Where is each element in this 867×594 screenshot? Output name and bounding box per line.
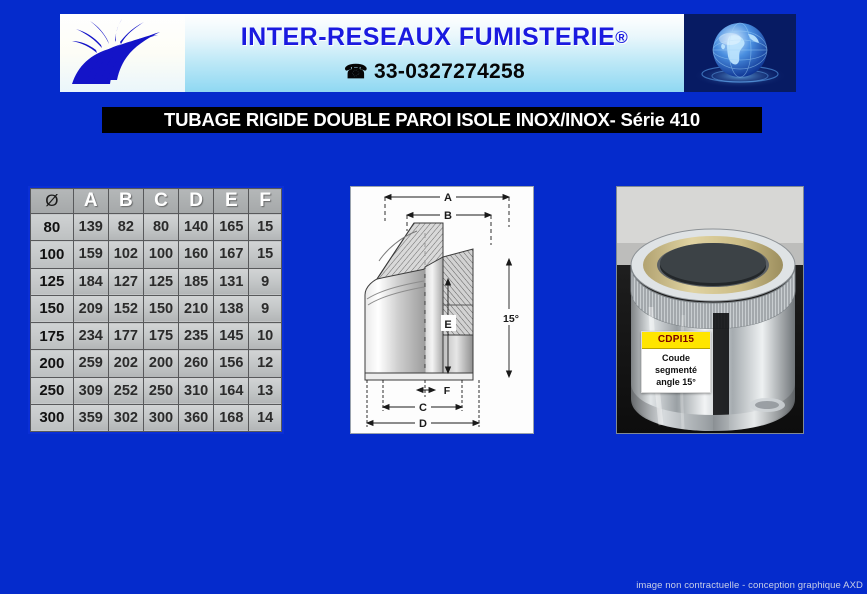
table-row: 200 259 202 200 260 156 12 (31, 350, 282, 377)
cell-diameter: 250 (31, 377, 74, 404)
product-description-line1: Coude (644, 352, 708, 364)
dimension-label-f: F (444, 385, 451, 397)
dimension-label-e: E (444, 319, 451, 331)
disclaimer-footer: image non contractuelle - conception gra… (636, 580, 867, 591)
cell-e: 138 (214, 295, 249, 322)
cell-e: 131 (214, 268, 249, 295)
cell-d: 140 (179, 214, 214, 241)
table-row: 100 159 102 100 160 167 15 (31, 241, 282, 268)
dimension-label-d: D (419, 418, 427, 430)
cell-a: 234 (73, 323, 108, 350)
cell-e: 164 (214, 377, 249, 404)
globe-graphic (684, 14, 796, 92)
cell-b: 302 (108, 404, 143, 431)
cell-a: 139 (73, 214, 108, 241)
cell-diameter: 80 (31, 214, 74, 241)
page-title-text: TUBAGE RIGIDE DOUBLE PAROI ISOLE INOX/IN… (164, 109, 700, 131)
registered-mark: ® (615, 28, 628, 47)
cell-a: 184 (73, 268, 108, 295)
cell-b: 152 (108, 295, 143, 322)
cell-diameter: 200 (31, 350, 74, 377)
dimension-label-b: B (444, 210, 452, 222)
cell-c: 125 (143, 268, 178, 295)
table-row: 175 234 177 175 235 145 10 (31, 323, 282, 350)
cell-d: 360 (179, 404, 214, 431)
cell-e: 165 (214, 214, 249, 241)
cell-f: 9 (249, 268, 282, 295)
cell-b: 127 (108, 268, 143, 295)
cell-diameter: 175 (31, 323, 74, 350)
cell-d: 185 (179, 268, 214, 295)
cell-diameter: 100 (31, 241, 74, 268)
company-name: INTER-RESEAUX FUMISTERIE® (241, 24, 629, 50)
globe-icon (684, 14, 796, 92)
column-header-diameter: Ø (31, 189, 74, 214)
cell-f: 15 (249, 214, 282, 241)
cell-e: 167 (214, 241, 249, 268)
telephone-icon: ☎ (344, 62, 368, 83)
table-header-row: Ø A B C D E F (31, 189, 282, 214)
company-name-text: INTER-RESEAUX FUMISTERIE (241, 23, 616, 51)
cell-d: 310 (179, 377, 214, 404)
column-header-c: C (143, 189, 178, 214)
cell-b: 202 (108, 350, 143, 377)
product-description: Coude segmenté angle 15° (642, 349, 710, 392)
cell-d: 235 (179, 323, 214, 350)
phone-number: 33-0327274258 (374, 60, 525, 83)
cell-b: 102 (108, 241, 143, 268)
phone-line: ☎33-0327274258 (344, 60, 525, 84)
cell-c: 175 (143, 323, 178, 350)
column-header-f: F (249, 189, 282, 214)
banner-text-block: INTER-RESEAUX FUMISTERIE® ☎33-0327274258 (185, 14, 684, 92)
cell-e: 156 (214, 350, 249, 377)
segmented-elbow-product-photo (617, 187, 803, 433)
technical-drawing-panel: A B E 15° F (350, 186, 534, 434)
cell-b: 82 (108, 214, 143, 241)
cell-d: 260 (179, 350, 214, 377)
cell-diameter: 300 (31, 404, 74, 431)
column-header-a: A (73, 189, 108, 214)
column-header-b: B (108, 189, 143, 214)
cell-c: 200 (143, 350, 178, 377)
cell-c: 80 (143, 214, 178, 241)
cell-c: 150 (143, 295, 178, 322)
table-row: 250 309 252 250 310 164 13 (31, 377, 282, 404)
cell-c: 250 (143, 377, 178, 404)
cell-f: 10 (249, 323, 282, 350)
segmented-elbow-technical-drawing: A B E 15° F (351, 187, 533, 433)
cell-a: 259 (73, 350, 108, 377)
product-photo-panel: CDPI15 Coude segmenté angle 15° (616, 186, 804, 434)
dimension-label-a: A (444, 192, 452, 204)
dimensions-table: Ø A B C D E F 80 139 82 80 140 165 15 10… (30, 188, 282, 432)
cell-e: 168 (214, 404, 249, 431)
table-row: 80 139 82 80 140 165 15 (31, 214, 282, 241)
cell-b: 177 (108, 323, 143, 350)
table-row: 300 359 302 300 360 168 14 (31, 404, 282, 431)
table-row: 150 209 152 150 210 138 9 (31, 295, 282, 322)
dimensions-table-panel: Ø A B C D E F 80 139 82 80 140 165 15 10… (28, 186, 284, 434)
product-description-line2: segmenté (644, 364, 708, 376)
column-header-e: E (214, 189, 249, 214)
angle-label: 15° (503, 313, 519, 325)
table-row: 125 184 127 125 185 131 9 (31, 268, 282, 295)
cell-diameter: 125 (31, 268, 74, 295)
page-title: TUBAGE RIGIDE DOUBLE PAROI ISOLE INOX/IN… (102, 107, 762, 133)
cell-c: 300 (143, 404, 178, 431)
swoosh-logo-icon (60, 14, 185, 92)
cell-a: 309 (73, 377, 108, 404)
cell-a: 209 (73, 295, 108, 322)
column-header-d: D (179, 189, 214, 214)
header-banner: INTER-RESEAUX FUMISTERIE® ☎33-0327274258 (60, 14, 796, 92)
cell-c: 100 (143, 241, 178, 268)
cell-b: 252 (108, 377, 143, 404)
cell-d: 160 (179, 241, 214, 268)
product-description-line3: angle 15° (644, 376, 708, 388)
cell-f: 15 (249, 241, 282, 268)
cell-e: 145 (214, 323, 249, 350)
product-label: CDPI15 Coude segmenté angle 15° (641, 331, 711, 393)
cell-d: 210 (179, 295, 214, 322)
dimension-label-c: C (419, 402, 427, 414)
cell-f: 14 (249, 404, 282, 431)
cell-f: 12 (249, 350, 282, 377)
cell-diameter: 150 (31, 295, 74, 322)
company-logo (60, 14, 185, 92)
cell-a: 159 (73, 241, 108, 268)
cell-f: 13 (249, 377, 282, 404)
product-code: CDPI15 (642, 332, 710, 349)
cell-a: 359 (73, 404, 108, 431)
cell-f: 9 (249, 295, 282, 322)
